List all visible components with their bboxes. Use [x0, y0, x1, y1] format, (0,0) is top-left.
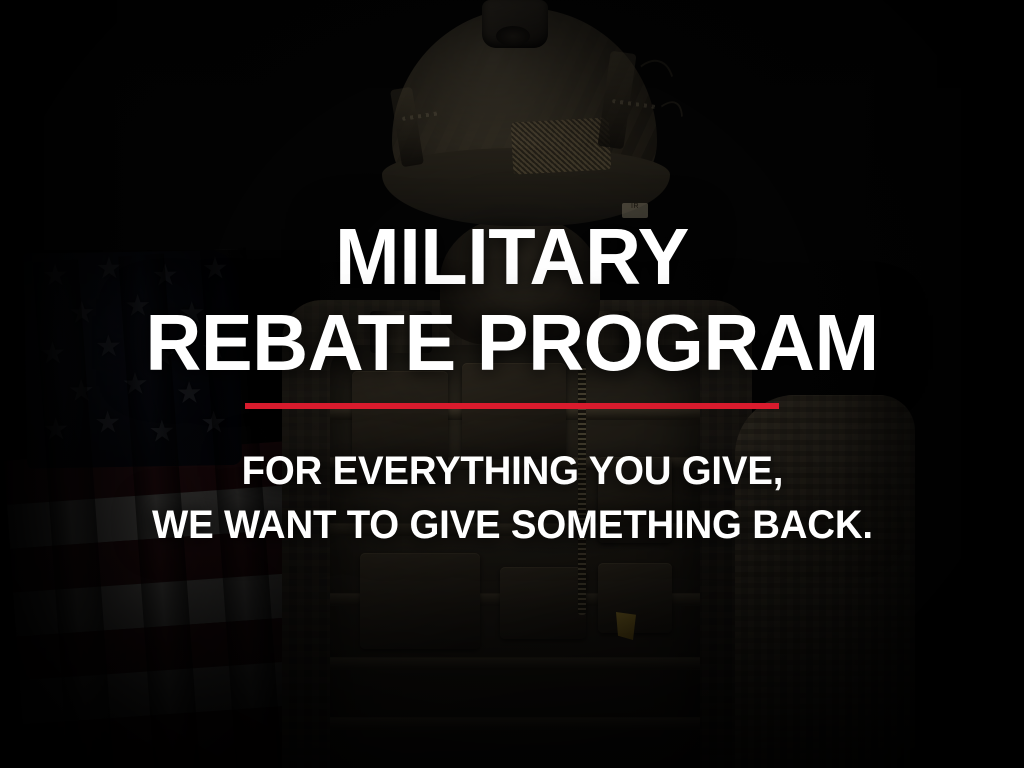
- vest-pouch: [352, 371, 448, 483]
- plate-carrier-vest-icon: [330, 345, 700, 768]
- helmet-ir-patch: IR: [622, 203, 648, 218]
- flag-star-icon: ★: [95, 332, 122, 362]
- vest-zipper: [578, 365, 586, 615]
- flag-star-icon: ★: [176, 379, 203, 409]
- gold-accessory-tab: [616, 612, 636, 640]
- molle-webbing-row: [330, 657, 700, 670]
- helmet-velcro-patch: [511, 117, 612, 174]
- vest-pouch: [598, 457, 672, 543]
- vest-pouch: [360, 553, 480, 649]
- military-rebate-poster: ★★★★★★★★★★★★★★★★★★: [0, 0, 1024, 768]
- soldier-background-photo: ★★★★★★★★★★★★★★★★★★: [0, 0, 1024, 768]
- shoulder-strap: [370, 311, 432, 353]
- flag-star-icon: ★: [178, 298, 205, 328]
- molle-webbing-row: [330, 717, 700, 730]
- american-flag-icon: ★★★★★★★★★★★★★★★★★★: [0, 245, 327, 768]
- vest-pouch: [500, 567, 586, 639]
- night-vision-mount-icon: [482, 0, 548, 48]
- flag-star-icon: ★: [94, 408, 121, 438]
- neck-gaiter: [440, 215, 600, 345]
- camouflage-sleeve-icon: [735, 395, 915, 768]
- vest-pouch: [462, 363, 566, 459]
